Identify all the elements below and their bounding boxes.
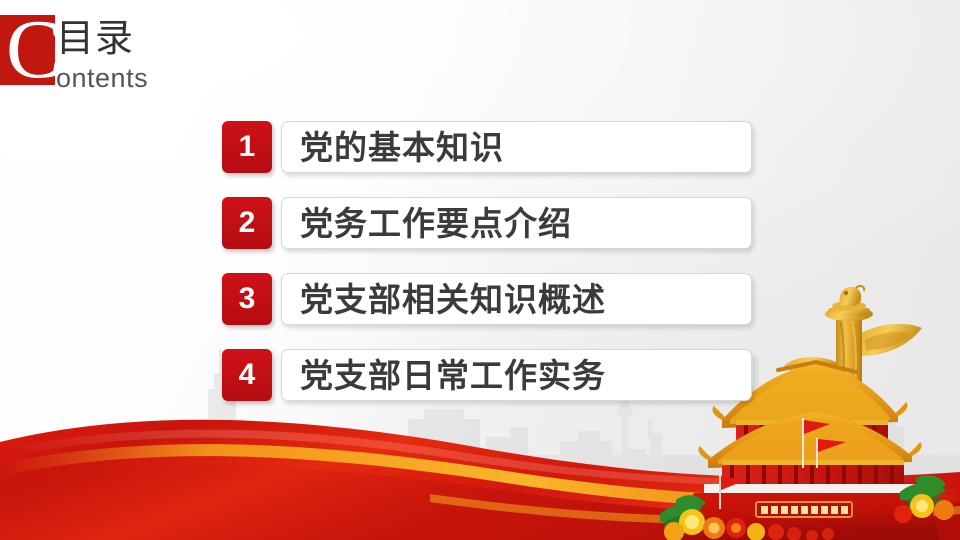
contents-number-badge: 4 xyxy=(222,349,272,401)
contents-item-label: 党务工作要点介绍 xyxy=(282,207,572,240)
banner-text-glyphs xyxy=(761,506,848,514)
contents-card[interactable]: 党支部日常工作实务 xyxy=(281,349,752,401)
contents-item-2[interactable]: 2 党务工作要点介绍 xyxy=(222,197,752,249)
contents-item-label: 党支部相关知识概述 xyxy=(282,283,606,316)
contents-item-1[interactable]: 1 党的基本知识 xyxy=(222,121,752,173)
contents-number-badge: 1 xyxy=(222,121,272,173)
slide-canvas: C 目录 ontents 1 党的基本知识 2 党务工作要点介绍 3 党支部相关… xyxy=(0,0,960,540)
contents-card[interactable]: 党支部相关知识概述 xyxy=(281,273,752,325)
header-initial-letter: C xyxy=(6,8,62,92)
contents-item-4[interactable]: 4 党支部日常工作实务 xyxy=(222,349,752,401)
contents-list: 1 党的基本知识 2 党务工作要点介绍 3 党支部相关知识概述 4 党支部日常工… xyxy=(222,121,752,425)
contents-number-badge: 2 xyxy=(222,197,272,249)
contents-header: C 目录 ontents xyxy=(0,15,230,95)
contents-item-3[interactable]: 3 党支部相关知识概述 xyxy=(222,273,752,325)
contents-number-badge: 3 xyxy=(222,273,272,325)
contents-card[interactable]: 党的基本知识 xyxy=(281,121,752,173)
header-title-chinese: 目录 xyxy=(56,17,134,61)
header-title-english: ontents xyxy=(56,63,148,93)
contents-item-label: 党支部日常工作实务 xyxy=(282,359,606,392)
contents-card[interactable]: 党务工作要点介绍 xyxy=(281,197,752,249)
contents-item-label: 党的基本知识 xyxy=(282,131,504,164)
